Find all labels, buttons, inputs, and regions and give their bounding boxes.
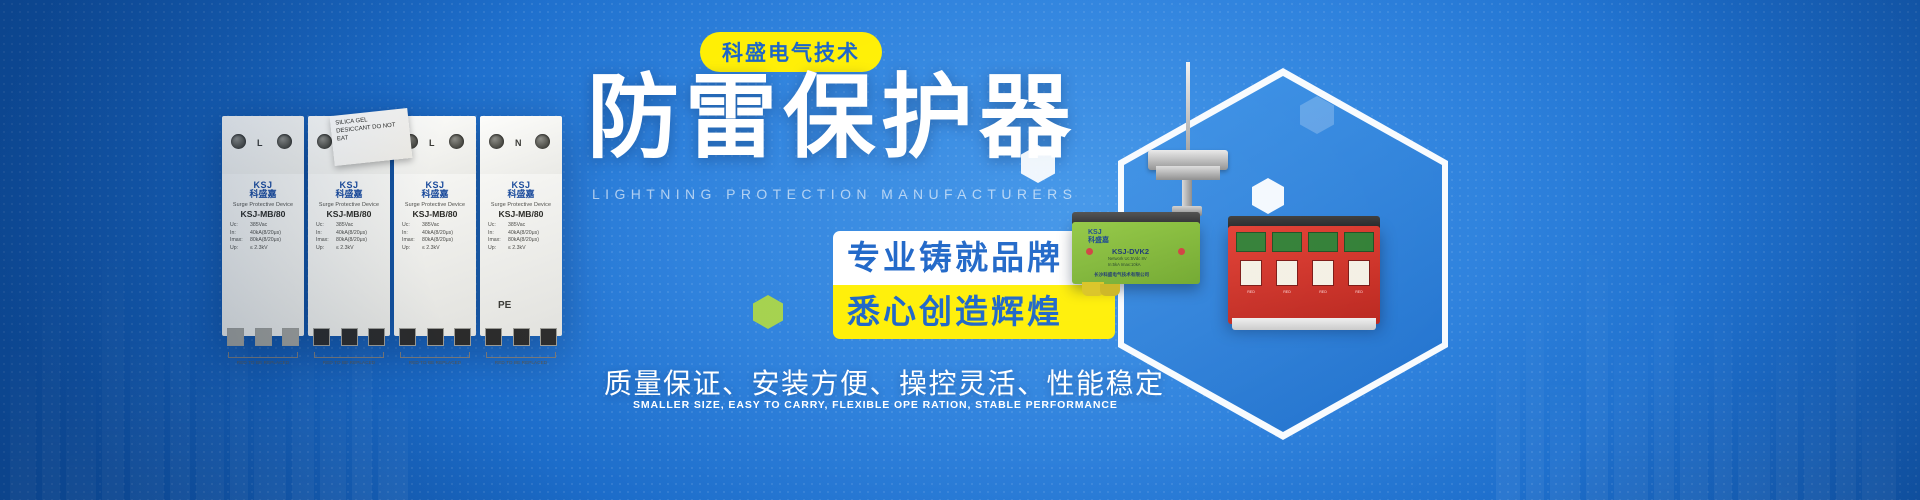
banner-root: L KSJ 科盛嘉 Surge Protective Device KSJ-MB… [0, 0, 1920, 500]
vignette-overlay [0, 0, 1920, 500]
